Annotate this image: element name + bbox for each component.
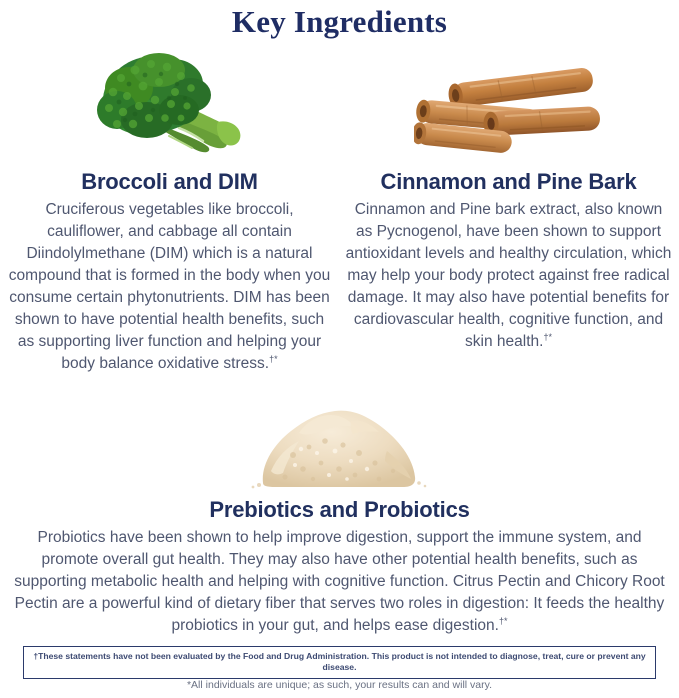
page-title: Key Ingredients bbox=[0, 5, 679, 39]
ingredient-card-prebiotics: Prebiotics and Probiotics Probiotics hav… bbox=[0, 383, 679, 637]
cinnamon-sticks-photo bbox=[414, 45, 604, 163]
footnote-marker: †* bbox=[543, 332, 552, 342]
section-body-text: Cruciferous vegetables like broccoli, ca… bbox=[9, 201, 330, 372]
section-heading: Prebiotics and Probiotics bbox=[209, 497, 469, 523]
section-body-text: Probiotics have been shown to help impro… bbox=[14, 529, 665, 634]
ingredient-card-broccoli: Broccoli and DIM Cruciferous vegetables … bbox=[0, 45, 339, 375]
section-heading: Cinnamon and Pine Bark bbox=[381, 169, 637, 195]
footnote-marker: †* bbox=[269, 354, 278, 364]
section-body: Cruciferous vegetables like broccoli, ca… bbox=[6, 199, 333, 375]
broccoli-photo bbox=[95, 45, 245, 163]
two-column-section: Broccoli and DIM Cruciferous vegetables … bbox=[0, 45, 679, 375]
section-body-text: Cinnamon and Pine bark extract, also kno… bbox=[346, 201, 672, 350]
footnote-marker: †* bbox=[499, 616, 508, 626]
key-ingredients-page: Key Ingredients bbox=[0, 5, 679, 698]
section-body: Cinnamon and Pine bark extract, also kno… bbox=[345, 199, 672, 353]
prebiotic-powder-photo bbox=[247, 383, 432, 491]
fda-disclaimer: †These statements have not been evaluate… bbox=[23, 646, 656, 679]
section-body: Probiotics have been shown to help impro… bbox=[10, 527, 670, 637]
ingredient-card-cinnamon: Cinnamon and Pine Bark Cinnamon and Pine… bbox=[339, 45, 678, 375]
section-heading: Broccoli and DIM bbox=[81, 169, 258, 195]
results-vary-footnote: *All individuals are unique; as such, yo… bbox=[0, 678, 679, 692]
